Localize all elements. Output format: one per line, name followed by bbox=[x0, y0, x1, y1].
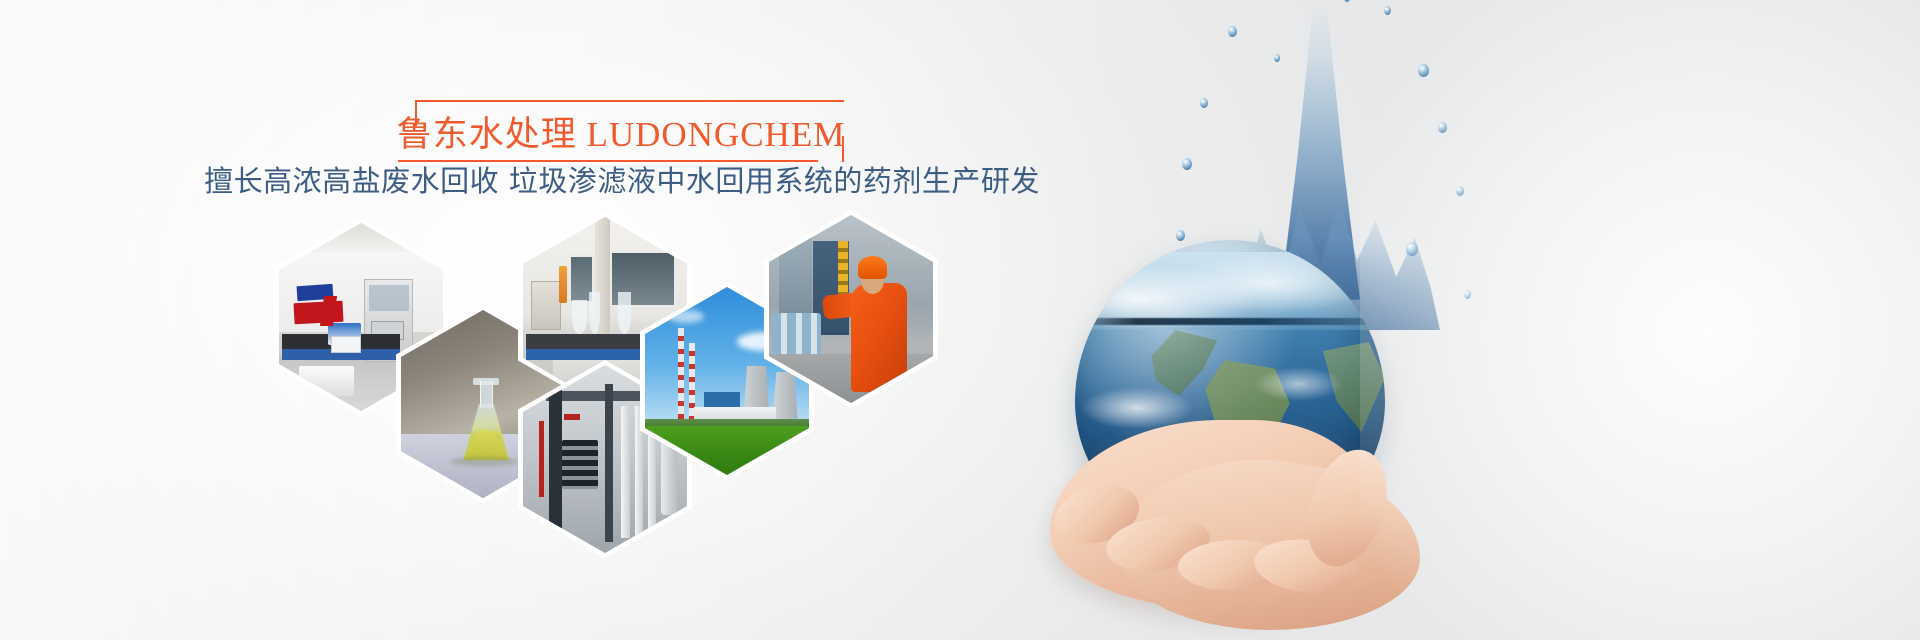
hexagon-gallery: 实验室水处理分析设备 锥形瓶中的黄色药剂样品 实验台玻璃器皿与通风窗 bbox=[240, 210, 980, 520]
page-subtitle: 擅长高浓高盐废水回收 垃圾渗滤液中水回用系统的药剂生产研发 bbox=[222, 158, 1022, 200]
water-globe-visual: 水花飞溅 双手捧着注满水的地球 bbox=[1020, 0, 1640, 640]
hexagon-caption: 实验台玻璃器皿与通风窗 bbox=[523, 217, 524, 218]
cupped-hands-graphic bbox=[1010, 390, 1430, 630]
page-title: 鲁东水处理 LUDONGCHEM bbox=[398, 100, 844, 162]
headline-block: 鲁东水处理 LUDONGCHEM bbox=[398, 100, 844, 162]
hexagon-caption: 实验室水处理分析设备 bbox=[279, 223, 280, 224]
hexagon-caption: 橙色工装技术人员现场操作 bbox=[769, 215, 770, 216]
banner-stage: 鲁东水处理 LUDONGCHEM 擅长高浓高盐废水回收 垃圾渗滤液中水回用系统的… bbox=[0, 0, 1920, 640]
globe-waterline bbox=[1075, 318, 1385, 325]
